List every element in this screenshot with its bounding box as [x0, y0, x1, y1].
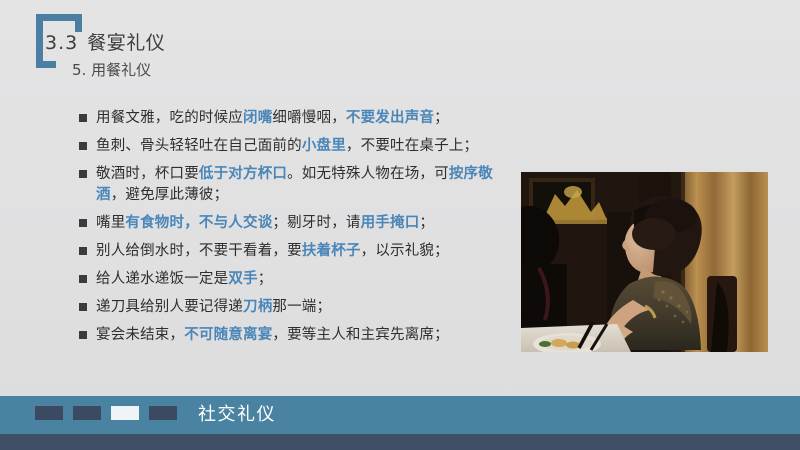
plain-phrase: 那一端； [272, 299, 331, 315]
bullet-text: 递刀具给别人要记得递刀柄那一端； [96, 297, 509, 318]
highlighted-phrase: 刀柄 [243, 299, 272, 315]
bullet-item: 嘴里有食物时，不与人交谈；剔牙时，请用手掩口； [79, 213, 509, 234]
square-bullet-icon [79, 114, 87, 122]
plain-phrase: ； [258, 271, 273, 287]
highlighted-phrase: 双手 [228, 271, 257, 287]
footer-square-4[interactable] [149, 406, 177, 420]
highlighted-phrase: 扶着杯子 [302, 243, 361, 259]
bullet-text: 用餐文雅，吃的时候应闭嘴细嚼慢咽，不要发出声音； [96, 108, 509, 129]
square-bullet-icon [79, 331, 87, 339]
plain-phrase: 递刀具给别人要记得递 [96, 299, 243, 315]
footer-title: 社交礼仪 [198, 400, 276, 426]
section-title: 餐宴礼仪 [87, 32, 165, 54]
plain-phrase: 。如无特殊人物在场，可 [287, 166, 449, 182]
slide-canvas: 3.3餐宴礼仪 5. 用餐礼仪 用餐文雅，吃的时候应闭嘴细嚼慢咽，不要发出声音；… [0, 0, 800, 450]
plain-phrase: ； [419, 215, 434, 231]
footer-base-bar [0, 434, 800, 450]
bracket-bottom-left-stub [36, 61, 56, 68]
square-bullet-icon [79, 247, 87, 255]
square-bullet-icon [79, 219, 87, 227]
bullet-list: 用餐文雅，吃的时候应闭嘴细嚼慢咽，不要发出声音；鱼刺、骨头轻轻吐在自己面前的小盘… [79, 108, 509, 353]
plain-phrase: ；剔牙时，请 [272, 215, 360, 231]
plain-phrase: 细嚼慢咽， [272, 110, 346, 126]
highlighted-phrase: 不要发出声音 [346, 110, 434, 126]
square-bullet-icon [79, 170, 87, 178]
plain-phrase: 鱼刺、骨头轻轻吐在自己面前的 [96, 138, 302, 154]
plain-phrase: 别人给倒水时，不要干看着，要 [96, 243, 302, 259]
footer-progress-squares [35, 406, 177, 420]
plain-phrase: 宴会未结束， [96, 327, 184, 343]
bullet-text: 敬酒时，杯口要低于对方杯口。如无特殊人物在场，可按序敬酒，避免厚此薄彼； [96, 164, 509, 206]
page-subtitle: 5. 用餐礼仪 [72, 59, 151, 80]
slide-header: 3.3餐宴礼仪 5. 用餐礼仪 [0, 0, 420, 95]
highlighted-phrase: 低于对方杯口 [199, 166, 287, 182]
bullet-item: 鱼刺、骨头轻轻吐在自己面前的小盘里，不要吐在桌子上； [79, 136, 509, 157]
plain-phrase: ； [434, 110, 449, 126]
plain-phrase: ，以示礼貌； [361, 243, 449, 259]
square-bullet-icon [79, 303, 87, 311]
highlighted-phrase: 闭嘴 [243, 110, 272, 126]
bullet-item: 用餐文雅，吃的时候应闭嘴细嚼慢咽，不要发出声音； [79, 108, 509, 129]
highlighted-phrase: 小盘里 [302, 138, 346, 154]
square-bullet-icon [79, 142, 87, 150]
plain-phrase: 嘴里 [96, 215, 125, 231]
page-title: 3.3餐宴礼仪 [45, 28, 165, 55]
footer-square-3[interactable] [111, 406, 139, 420]
bullet-text: 鱼刺、骨头轻轻吐在自己面前的小盘里，不要吐在桌子上； [96, 136, 509, 157]
section-number: 3.3 [45, 32, 78, 54]
bullet-text: 给人递水递饭一定是双手； [96, 269, 509, 290]
plain-phrase: 用餐文雅，吃的时候应 [96, 110, 243, 126]
bullet-text: 宴会未结束，不可随意离宴，要等主人和主宾先离席； [96, 325, 509, 346]
highlighted-phrase: 有食物时，不与人交谈 [125, 215, 272, 231]
square-bullet-icon [79, 275, 87, 283]
bullet-item: 别人给倒水时，不要干看着，要扶着杯子，以示礼貌； [79, 241, 509, 262]
plain-phrase: ，不要吐在桌子上； [346, 138, 478, 154]
plain-phrase: 给人递水递饭一定是 [96, 271, 228, 287]
highlighted-phrase: 用手掩口 [361, 215, 420, 231]
bracket-left-bar [36, 14, 43, 68]
bullet-item: 敬酒时，杯口要低于对方杯口。如无特殊人物在场，可按序敬酒，避免厚此薄彼； [79, 164, 509, 206]
bullet-text: 嘴里有食物时，不与人交谈；剔牙时，请用手掩口； [96, 213, 509, 234]
plain-phrase: ，要等主人和主宾先离席； [272, 327, 448, 343]
bullet-item: 给人递水递饭一定是双手； [79, 269, 509, 290]
bullet-item: 宴会未结束，不可随意离宴，要等主人和主宾先离席； [79, 325, 509, 346]
footer-square-2[interactable] [73, 406, 101, 420]
plain-phrase: ，避免厚此薄彼； [111, 187, 229, 203]
dinner-scene-photo [521, 172, 768, 352]
bullet-text: 别人给倒水时，不要干看着，要扶着杯子，以示礼貌； [96, 241, 509, 262]
highlighted-phrase: 不可随意离宴 [184, 327, 272, 343]
footer-square-1[interactable] [35, 406, 63, 420]
plain-phrase: 敬酒时，杯口要 [96, 166, 199, 182]
bullet-item: 递刀具给别人要记得递刀柄那一端； [79, 297, 509, 318]
